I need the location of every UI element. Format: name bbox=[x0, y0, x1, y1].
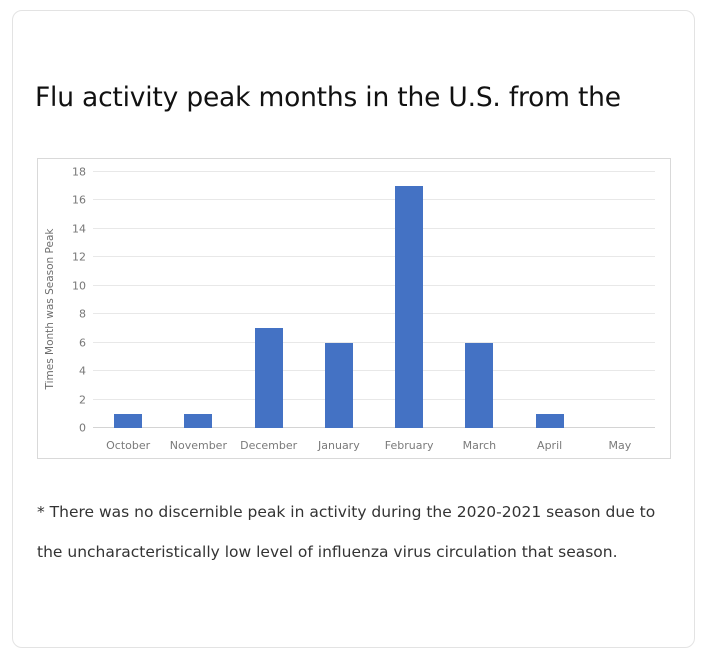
bar-cell[interactable] bbox=[163, 172, 233, 428]
footnote: * There was no discernible peak in activ… bbox=[37, 492, 657, 572]
x-axis-tick-label: May bbox=[585, 439, 655, 452]
bar-cell[interactable] bbox=[374, 172, 444, 428]
x-axis-labels: OctoberNovemberDecemberJanuaryFebruaryMa… bbox=[93, 439, 655, 452]
y-axis-title: Times Month was Season Peak bbox=[44, 228, 56, 389]
bar-cell[interactable] bbox=[93, 172, 163, 428]
chart-card: Flu activity peak months in the U.S. fro… bbox=[12, 10, 695, 648]
x-axis-tick-label: October bbox=[93, 439, 163, 452]
bar[interactable] bbox=[114, 414, 142, 428]
bar[interactable] bbox=[325, 343, 353, 428]
y-axis-tick-label: 8 bbox=[79, 308, 86, 321]
y-axis-tick-label: 14 bbox=[72, 222, 86, 235]
x-axis-tick-label: January bbox=[304, 439, 374, 452]
y-axis-tick-label: 4 bbox=[79, 365, 86, 378]
y-axis-tick-label: 6 bbox=[79, 336, 86, 349]
bar-chart: Times Month was Season Peak 024681012141… bbox=[37, 158, 671, 459]
x-axis-tick-label: February bbox=[374, 439, 444, 452]
bar[interactable] bbox=[395, 186, 423, 428]
title-line-1: Flu activity peak months in the U.S. fro… bbox=[35, 82, 621, 113]
x-axis-tick-label: November bbox=[163, 439, 233, 452]
x-axis-tick-label: March bbox=[444, 439, 514, 452]
y-axis-tick-label: 12 bbox=[72, 251, 86, 264]
y-axis-tick-label: 2 bbox=[79, 393, 86, 406]
y-axis-tick-label: 16 bbox=[72, 194, 86, 207]
bar[interactable] bbox=[536, 414, 564, 428]
bar[interactable] bbox=[184, 414, 212, 428]
bar-series bbox=[93, 172, 655, 428]
y-axis-tick-label: 10 bbox=[72, 279, 86, 292]
x-axis-tick-label: April bbox=[515, 439, 585, 452]
bar-cell[interactable] bbox=[304, 172, 374, 428]
bar[interactable] bbox=[465, 343, 493, 428]
bar-cell[interactable] bbox=[585, 172, 655, 428]
bar-cell[interactable] bbox=[444, 172, 514, 428]
bar[interactable] bbox=[255, 328, 283, 428]
plot-area: 024681012141618 bbox=[93, 172, 655, 428]
bar-cell[interactable] bbox=[515, 172, 585, 428]
y-axis-tick-label: 18 bbox=[72, 166, 86, 179]
x-axis-tick-label: December bbox=[234, 439, 304, 452]
bar-cell[interactable] bbox=[234, 172, 304, 428]
y-axis-tick-label: 0 bbox=[79, 422, 86, 435]
